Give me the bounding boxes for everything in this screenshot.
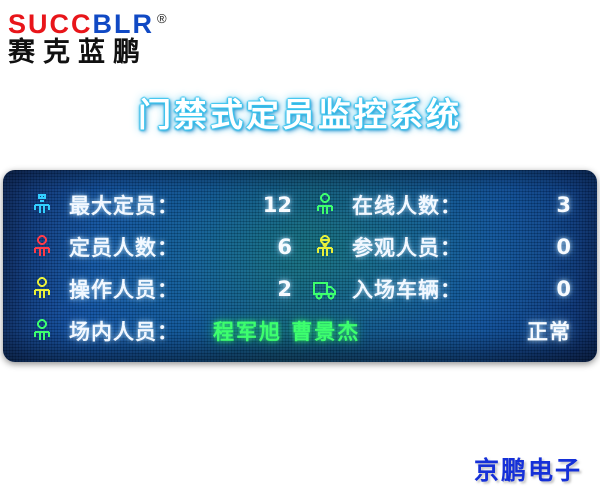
brand-chinese-name: 赛克蓝鹏 <box>8 37 228 69</box>
led-row-online-count: 在线人数： 3 <box>300 184 597 226</box>
person-icon <box>29 318 55 344</box>
led-label: 场内人员： <box>69 316 179 346</box>
person-icon <box>29 234 55 260</box>
person-icon <box>29 276 55 302</box>
led-row-occupants: 场内人员： 程军旭 曹景杰 正常 <box>3 310 597 352</box>
brand-wordmark-red: SUCC <box>8 9 93 39</box>
led-value: 0 <box>556 235 571 259</box>
led-label: 定员人数： <box>69 232 179 262</box>
person-icon <box>312 192 338 218</box>
led-row-assigned-count: 定员人数： 6 <box>3 226 300 268</box>
footer-company-name: 京鹏电子 <box>474 451 582 487</box>
brand-logo: SUCCBLR® 赛克蓝鹏 <box>8 4 228 70</box>
led-row-max-capacity: 最大定员： 12 <box>3 184 300 226</box>
led-value: 3 <box>556 193 571 217</box>
led-readout-grid: 最大定员： 12 在线人数： 3 <box>3 184 597 352</box>
status-badge: 正常 <box>527 316 571 346</box>
led-label: 入场车辆： <box>352 274 462 304</box>
led-row-operator-count: 操作人员： 2 <box>3 268 300 310</box>
led-display-panel: 最大定员： 12 在线人数： 3 <box>3 170 597 362</box>
led-row-vehicle-count: 入场车辆： 0 <box>300 268 597 310</box>
led-label: 在线人数： <box>352 190 462 220</box>
occupant-name-list: 程军旭 曹景杰 <box>213 316 360 346</box>
led-value: 6 <box>277 235 292 259</box>
led-value: 0 <box>556 277 571 301</box>
person-cap-icon <box>312 234 338 260</box>
page-title: 门禁式定员监控系统 <box>0 88 600 136</box>
led-label: 最大定员： <box>69 190 179 220</box>
registered-trademark-icon: ® <box>157 11 167 26</box>
led-row-visitor-count: 参观人员： 0 <box>300 226 597 268</box>
led-value: 12 <box>263 193 292 217</box>
person-cap-icon <box>29 192 55 218</box>
brand-wordmark-blue: BLR <box>93 9 155 39</box>
led-value: 2 <box>277 277 292 301</box>
truck-icon <box>312 276 338 302</box>
brand-wordmark: SUCCBLR® <box>8 4 228 36</box>
led-label: 参观人员： <box>352 232 462 262</box>
led-label: 操作人员： <box>69 274 179 304</box>
